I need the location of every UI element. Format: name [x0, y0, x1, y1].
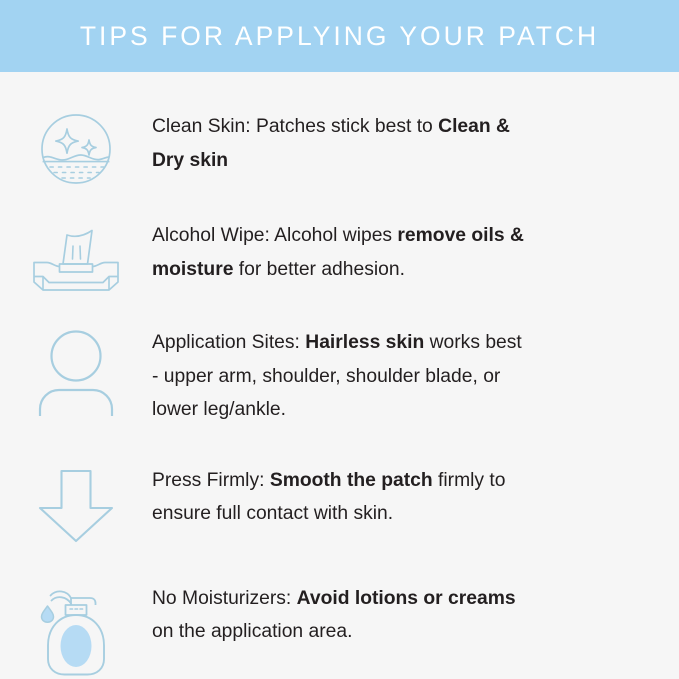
tip-4-line1-suffix: firmly to	[433, 470, 506, 491]
tip-text-alcohol-wipe: Alcohol Wipe: Alcohol wipes remove oils …	[152, 219, 679, 286]
tip-1-line1-bold: Clean &	[438, 116, 510, 137]
tip-item-application-sites: Application Sites: Hairless skin works b…	[0, 326, 679, 427]
tip-3-line1-suffix: works best	[424, 332, 522, 353]
tip-2-line2-bold: moisture	[152, 259, 233, 280]
tip-1-line1-prefix: Clean Skin: Patches stick best to	[152, 116, 438, 137]
page-title: TIPS FOR APPLYING YOUR PATCH	[80, 23, 599, 50]
tip-item-clean-skin: Clean Skin: Patches stick best to Clean …	[0, 110, 679, 186]
tips-infographic: TIPS FOR APPLYING YOUR PATCH	[0, 0, 679, 679]
tip-4-line1-prefix: Press Firmly:	[152, 470, 270, 491]
lotion-pump-bottle-icon	[0, 582, 152, 678]
tip-text-press-firmly: Press Firmly: Smooth the patch firmly to…	[152, 464, 679, 531]
tip-text-clean-skin: Clean Skin: Patches stick best to Clean …	[152, 110, 679, 177]
tip-2-line2-suffix: for better adhesion.	[233, 259, 405, 280]
tip-5-line1-bold: Avoid lotions or creams	[297, 588, 516, 609]
tip-3-line1-bold: Hairless skin	[305, 332, 424, 353]
tip-item-press-firmly: Press Firmly: Smooth the patch firmly to…	[0, 464, 679, 544]
tip-5-line2: on the application area.	[152, 621, 352, 642]
tip-3-line1-prefix: Application Sites:	[152, 332, 305, 353]
person-icon	[0, 326, 152, 416]
down-arrow-icon	[0, 464, 152, 544]
tip-4-line1-bold: Smooth the patch	[270, 470, 433, 491]
header-banner: TIPS FOR APPLYING YOUR PATCH	[0, 0, 679, 72]
tips-list: Clean Skin: Patches stick best to Clean …	[0, 110, 679, 678]
wipes-pack-icon	[0, 219, 152, 294]
sparkle-water-circle-icon	[0, 110, 152, 186]
tip-text-application-sites: Application Sites: Hairless skin works b…	[152, 326, 679, 427]
tip-2-line1-bold: remove oils &	[397, 225, 523, 246]
tip-item-no-moisturizers: No Moisturizers: Avoid lotions or creams…	[0, 582, 679, 678]
tip-5-line1-prefix: No Moisturizers:	[152, 588, 297, 609]
tip-item-alcohol-wipe: Alcohol Wipe: Alcohol wipes remove oils …	[0, 219, 679, 294]
tip-3-line2: - upper arm, shoulder, shoulder blade, o…	[152, 366, 500, 387]
tip-2-line1-prefix: Alcohol Wipe: Alcohol wipes	[152, 225, 397, 246]
tip-3-line3: lower leg/ankle.	[152, 399, 286, 420]
tip-text-no-moisturizers: No Moisturizers: Avoid lotions or creams…	[152, 582, 679, 649]
tip-4-line2: ensure full contact with skin.	[152, 503, 393, 524]
tip-1-line2-bold: Dry skin	[152, 150, 228, 171]
